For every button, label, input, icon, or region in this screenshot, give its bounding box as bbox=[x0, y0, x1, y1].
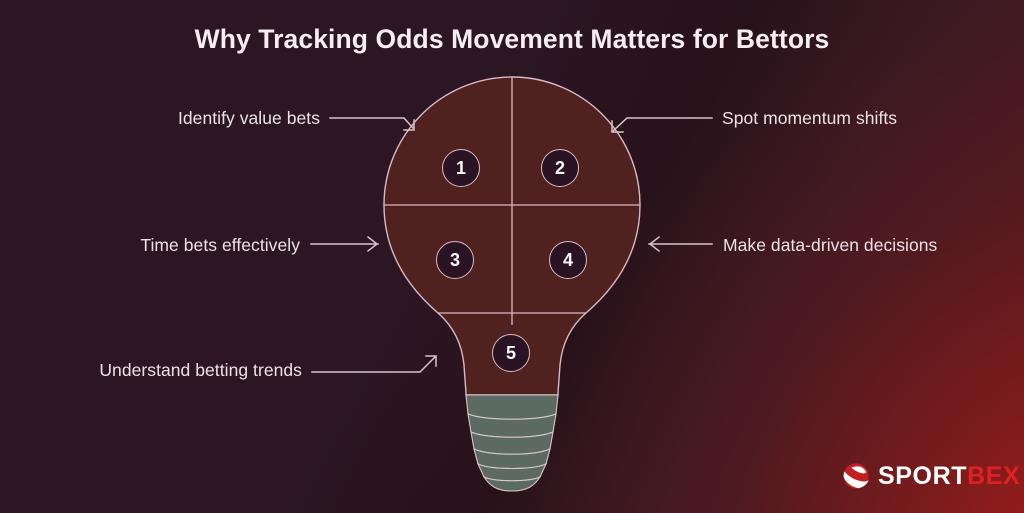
arrow-make-data-driven-decisions bbox=[649, 237, 712, 251]
swoosh-globe-icon bbox=[841, 461, 871, 491]
diagram-svg bbox=[0, 0, 1024, 513]
label-time-bets-effectively: Time bets effectively bbox=[0, 235, 300, 256]
label-understand-betting-trends: Understand betting trends bbox=[0, 360, 302, 381]
segment-marker-4: 4 bbox=[549, 241, 587, 279]
arrow-understand-betting-trends bbox=[312, 356, 436, 372]
arrow-identify-value-bets bbox=[330, 118, 414, 130]
segment-marker-2: 2 bbox=[541, 149, 579, 187]
segment-marker-3: 3 bbox=[436, 241, 474, 279]
arrow-time-bets-effectively bbox=[311, 237, 378, 251]
bulb-screw-base bbox=[466, 395, 558, 491]
infographic-canvas: Why Tracking Odds Movement Matters for B… bbox=[0, 0, 1024, 513]
logo-sport-text: SPORT bbox=[878, 462, 967, 490]
label-spot-momentum-shifts: Spot momentum shifts bbox=[722, 108, 897, 129]
segment-marker-5: 5 bbox=[492, 334, 530, 372]
logo-wordmark: SPORTBEX bbox=[878, 464, 1020, 489]
segment-marker-1: 1 bbox=[442, 149, 480, 187]
arrow-spot-momentum-shifts bbox=[612, 118, 712, 132]
label-make-data-driven-decisions: Make data-driven decisions bbox=[723, 235, 937, 256]
logo-bex-text: BEX bbox=[967, 462, 1020, 490]
brand-logo: SPORTBEX bbox=[841, 461, 1020, 491]
label-identify-value-bets: Identify value bets bbox=[0, 108, 320, 129]
